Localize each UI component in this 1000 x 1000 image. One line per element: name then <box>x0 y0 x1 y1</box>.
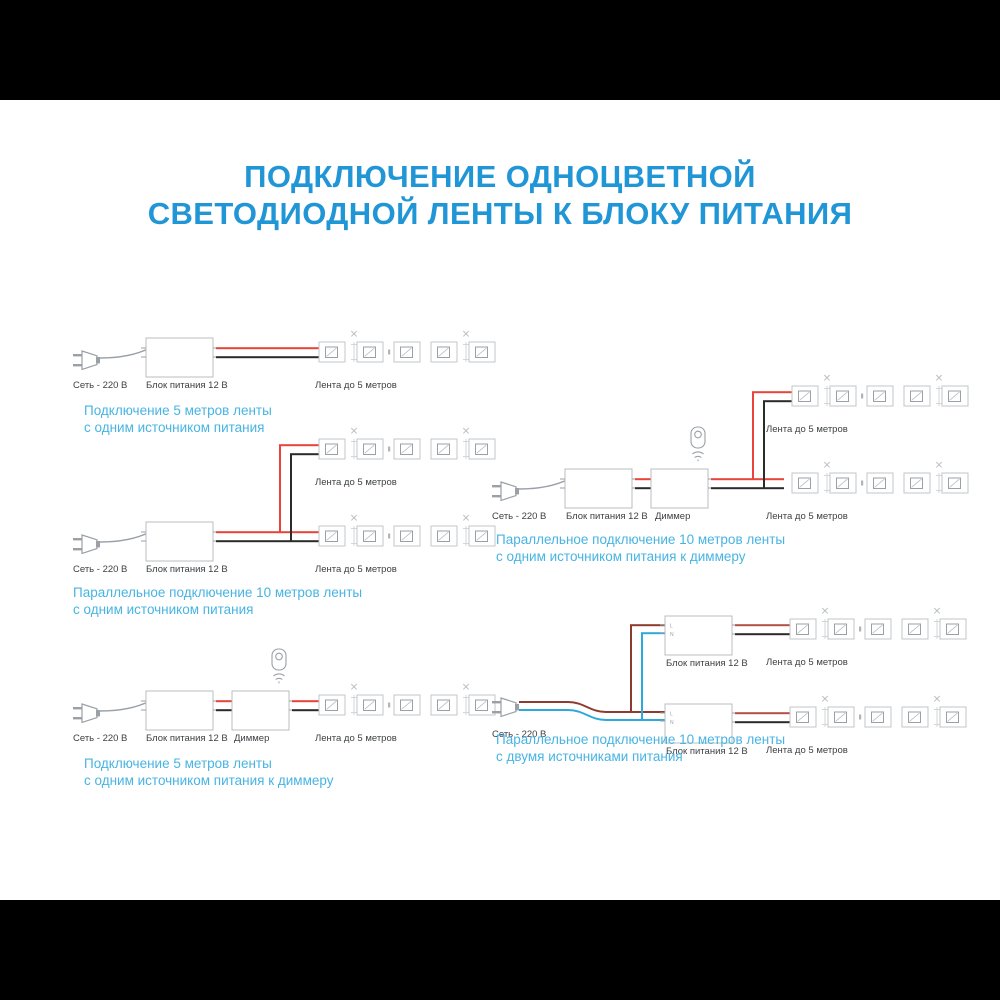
label-psu-d1: Блок питания 12 В <box>146 380 228 391</box>
svg-text:N: N <box>670 720 674 726</box>
diagram-canvas: ПОДКЛЮЧЕНИЕ ОДНОЦВЕТНОЙ СВЕТОДИОДНОЙ ЛЕН… <box>0 100 1000 900</box>
caption-line-2: с одним источником питания к диммеру <box>84 772 333 789</box>
caption-line-1: Подключение 5 метров ленты <box>84 755 333 772</box>
caption-parallel-10m-two-psu: Параллельное подключение 10 метров ленты… <box>496 731 785 765</box>
caption-single-5m: Подключение 5 метров ленты с одним источ… <box>84 402 272 436</box>
caption-line-1: Подключение 5 метров ленты <box>84 402 272 419</box>
diagram-parallel-10m-two-psu: L N L N <box>492 608 966 743</box>
caption-line-2: с одним источником питания <box>84 419 272 436</box>
label-strip-d4-top: Лента до 5 метров <box>766 424 848 435</box>
svg-text:L: L <box>670 712 673 718</box>
svg-text:L: L <box>670 624 673 630</box>
poster: ПОДКЛЮЧЕНИЕ ОДНОЦВЕТНОЙ СВЕТОДИОДНОЙ ЛЕН… <box>0 0 1000 1000</box>
label-strip-d3: Лента до 5 метров <box>315 733 397 744</box>
caption-parallel-10m-dimmer: Параллельное подключение 10 метров ленты… <box>496 531 785 565</box>
label-strip-d5-top: Лента до 5 метров <box>766 657 848 668</box>
label-mains-d4: Сеть - 220 В <box>492 511 546 522</box>
caption-line-1: Параллельное подключение 10 метров ленты <box>496 731 785 748</box>
diagram-parallel-10m-one-psu <box>73 428 495 561</box>
label-strip-d2-top: Лента до 5 метров <box>315 477 397 488</box>
label-strip-d2-bottom: Лента до 5 метров <box>315 564 397 575</box>
label-mains-d3: Сеть - 220 В <box>73 733 127 744</box>
caption-line-2: с одним источником питания <box>73 601 362 618</box>
label-mains-d1: Сеть - 220 В <box>73 380 127 391</box>
label-strip-d1: Лента до 5 метров <box>315 380 397 391</box>
diagram-parallel-10m-dimmer <box>492 375 968 508</box>
diagram-single-5m <box>73 331 495 377</box>
diagram-single-5m-dimmer <box>73 649 495 730</box>
label-dimmer-d4: Диммер <box>655 511 690 522</box>
label-psu-d4: Блок питания 12 В <box>566 511 648 522</box>
label-dimmer-d3: Диммер <box>234 733 269 744</box>
label-strip-d4-bottom: Лента до 5 метров <box>766 511 848 522</box>
label-mains-d2: Сеть - 220 В <box>73 564 127 575</box>
caption-line-1: Параллельное подключение 10 метров ленты <box>496 531 785 548</box>
svg-text:N: N <box>670 632 674 638</box>
top-frame-bar <box>0 0 1000 100</box>
caption-single-5m-dimmer: Подключение 5 метров ленты с одним источ… <box>84 755 333 789</box>
caption-parallel-10m-one-psu: Параллельное подключение 10 метров ленты… <box>73 584 362 618</box>
caption-line-2: с одним источником питания к диммеру <box>496 548 785 565</box>
caption-line-1: Параллельное подключение 10 метров ленты <box>73 584 362 601</box>
label-psu-d2: Блок питания 12 В <box>146 564 228 575</box>
caption-line-2: с двумя источниками питания <box>496 748 785 765</box>
label-psu-d5-top: Блок питания 12 В <box>666 658 748 669</box>
label-psu-d3: Блок питания 12 В <box>146 733 228 744</box>
bottom-frame-bar <box>0 900 1000 1000</box>
